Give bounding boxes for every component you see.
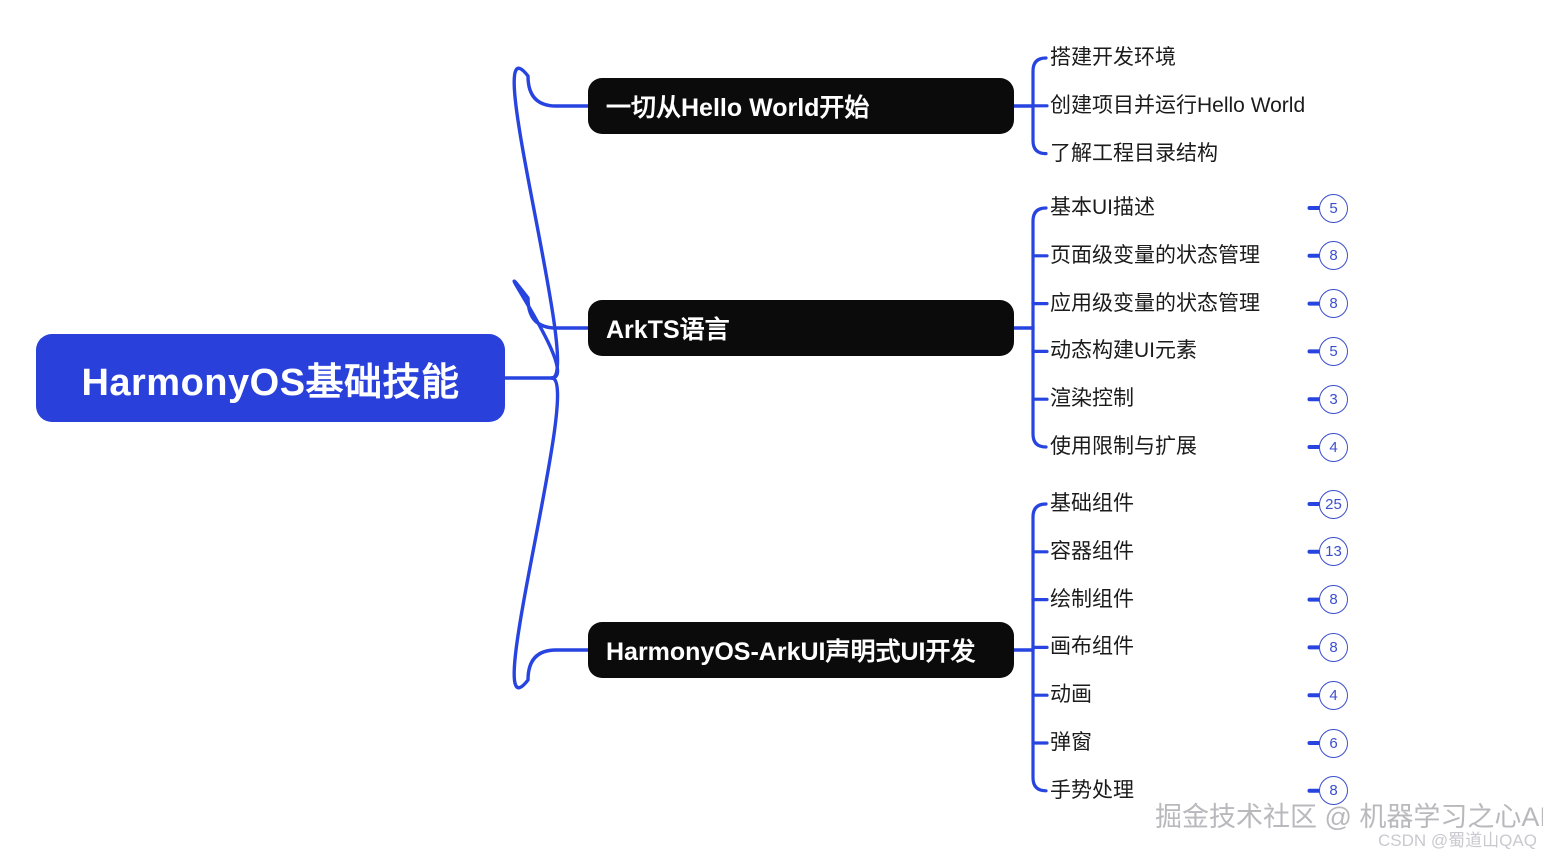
root-node[interactable]: HarmonyOS基础技能 — [36, 334, 505, 422]
leaf-node-label: 绘制组件 — [1050, 585, 1134, 615]
leaf-count-label: 8 — [1329, 640, 1337, 655]
branch-node-label: ArkTS语言 — [606, 310, 730, 346]
leaf-node[interactable]: 搭建开发环境 — [1050, 43, 1176, 73]
leaf-count-badge[interactable]: 5 — [1319, 194, 1348, 223]
leaf-count-label: 3 — [1329, 392, 1337, 407]
leaf-count-badge[interactable]: 4 — [1319, 433, 1348, 462]
leaf-node[interactable]: 创建项目并运行Hello World — [1050, 91, 1305, 121]
leaf-node-label: 渲染控制 — [1050, 384, 1134, 414]
leaf-count-badge[interactable]: 5 — [1319, 337, 1348, 366]
leaf-count-label: 5 — [1329, 201, 1337, 216]
leaf-node[interactable]: 使用限制与扩展 — [1050, 432, 1197, 462]
leaf-count-badge[interactable]: 8 — [1319, 289, 1348, 318]
leaf-node[interactable]: 动画 — [1050, 680, 1092, 710]
leaf-node[interactable]: 画布组件 — [1050, 632, 1134, 662]
branch-node-label: HarmonyOS-ArkUI声明式UI开发 — [606, 632, 976, 668]
leaf-count-label: 8 — [1329, 296, 1337, 311]
leaf-node[interactable]: 基础组件 — [1050, 489, 1134, 519]
branch-node-hello-world[interactable]: 一切从Hello World开始 — [588, 78, 1014, 134]
leaf-node-label: 页面级变量的状态管理 — [1050, 241, 1260, 271]
branch-node-label: 一切从Hello World开始 — [606, 88, 869, 124]
leaf-node[interactable]: 应用级变量的状态管理 — [1050, 289, 1260, 319]
leaf-node-label: 了解工程目录结构 — [1050, 139, 1218, 169]
leaf-node-label: 容器组件 — [1050, 537, 1134, 567]
leaf-node[interactable]: 绘制组件 — [1050, 585, 1134, 615]
branch-node-arkui[interactable]: HarmonyOS-ArkUI声明式UI开发 — [588, 622, 1014, 678]
leaf-count-badge[interactable]: 8 — [1319, 241, 1348, 270]
leaf-node[interactable]: 基本UI描述 — [1050, 193, 1155, 223]
leaf-count-badge[interactable]: 8 — [1319, 633, 1348, 662]
leaf-count-badge[interactable]: 6 — [1319, 729, 1348, 758]
leaf-node-label: 动画 — [1050, 680, 1092, 710]
branch-node-arkts[interactable]: ArkTS语言 — [588, 300, 1014, 356]
leaf-count-badge[interactable]: 8 — [1319, 585, 1348, 614]
leaf-node[interactable]: 动态构建UI元素 — [1050, 336, 1197, 366]
leaf-count-label: 5 — [1329, 344, 1337, 359]
leaf-node[interactable]: 页面级变量的状态管理 — [1050, 241, 1260, 271]
leaf-count-badge[interactable]: 4 — [1319, 681, 1348, 710]
leaf-count-label: 4 — [1329, 688, 1337, 703]
leaf-node[interactable]: 容器组件 — [1050, 537, 1134, 567]
leaf-node-label: 基本UI描述 — [1050, 193, 1155, 223]
leaf-count-label: 8 — [1329, 592, 1337, 607]
mindmap-canvas: HarmonyOS基础技能 一切从Hello World开始 ArkTS语言 H… — [0, 0, 1543, 850]
leaf-count-badge[interactable]: 25 — [1319, 490, 1348, 519]
leaf-count-label: 4 — [1329, 440, 1337, 455]
leaf-node-label: 搭建开发环境 — [1050, 43, 1176, 73]
leaf-count-badge[interactable]: 3 — [1319, 385, 1348, 414]
leaf-count-label: 13 — [1325, 544, 1342, 559]
leaf-node-label: 画布组件 — [1050, 632, 1134, 662]
root-node-label: HarmonyOS基础技能 — [81, 351, 459, 406]
leaf-node-label: 手势处理 — [1050, 776, 1134, 806]
leaf-node-label: 应用级变量的状态管理 — [1050, 289, 1260, 319]
leaf-node-label: 动态构建UI元素 — [1050, 336, 1197, 366]
leaf-count-label: 8 — [1329, 248, 1337, 263]
leaf-count-label: 25 — [1325, 497, 1342, 512]
leaf-count-badge[interactable]: 13 — [1319, 537, 1348, 566]
leaf-count-label: 6 — [1329, 736, 1337, 751]
watermark-secondary: CSDN @蜀道山QAQ — [1378, 826, 1537, 850]
leaf-node[interactable]: 弹窗 — [1050, 728, 1092, 758]
leaf-node[interactable]: 手势处理 — [1050, 776, 1134, 806]
leaf-node[interactable]: 渲染控制 — [1050, 384, 1134, 414]
leaf-node-label: 基础组件 — [1050, 489, 1134, 519]
leaf-node-label: 弹窗 — [1050, 728, 1092, 758]
leaf-node-label: 使用限制与扩展 — [1050, 432, 1197, 462]
leaf-node[interactable]: 了解工程目录结构 — [1050, 139, 1218, 169]
leaf-node-label: 创建项目并运行Hello World — [1050, 91, 1305, 121]
